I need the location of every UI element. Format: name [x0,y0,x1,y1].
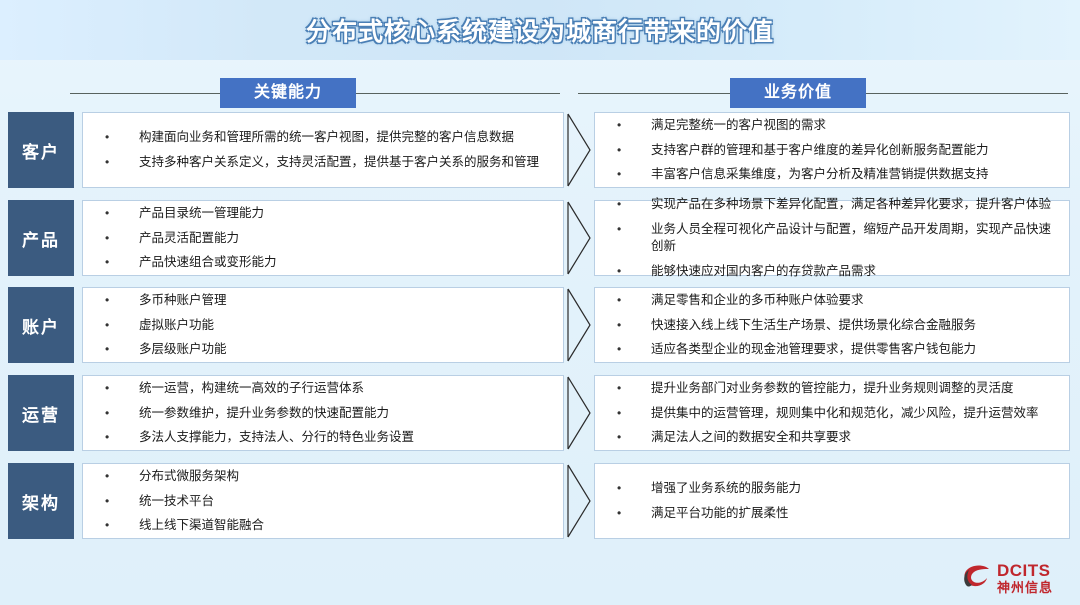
chevron-right-icon [566,463,592,539]
bullet-dot-icon: • [609,505,651,521]
page-title: 分布式核心系统建设为城商行带来的价值 [0,12,1080,48]
bullet-item: •统一技术平台 [97,493,557,510]
bullet-dot-icon: • [609,166,651,182]
bullet-text: 提供集中的运营管理，规则集中化和规范化，减少风险，提升运营效率 [651,405,1063,422]
bullet-item: •多法人支撑能力，支持法人、分行的特色业务设置 [97,429,557,446]
bullet-item: •适应各类型企业的现金池管理要求，提供零售客户钱包能力 [609,341,1063,358]
bullet-dot-icon: • [97,230,139,246]
slide-canvas: 分布式核心系统建设为城商行带来的价值 关键能力 业务价值 客户•构建面向业务和管… [0,0,1080,605]
bullet-text: 快速接入线上线下生活生产场景、提供场景化综合金融服务 [651,317,1063,334]
bullet-dot-icon: • [609,142,651,158]
bullet-item: •分布式微服务架构 [97,468,557,485]
bullet-item: •业务人员全程可视化产品设计与配置，缩短产品开发周期，实现产品快速创新 [609,221,1063,255]
bullet-dot-icon: • [97,205,139,221]
bullet-dot-icon: • [97,493,139,509]
capability-panel-1: •产品目录统一管理能力•产品灵活配置能力•产品快速组合或变形能力 [82,200,564,276]
bullet-dot-icon: • [97,154,139,170]
bullet-dot-icon: • [609,380,651,396]
bullet-text: 满足平台功能的扩展柔性 [651,505,1063,522]
bullet-dot-icon: • [97,254,139,270]
bullet-dot-icon: • [609,429,651,445]
bullet-text: 多层级账户功能 [139,341,557,358]
bullet-item: •产品灵活配置能力 [97,230,557,247]
bullet-text: 提升业务部门对业务参数的管控能力，提升业务规则调整的灵活度 [651,380,1063,397]
bullet-item: •快速接入线上线下生活生产场景、提供场景化综合金融服务 [609,317,1063,334]
logo-wordmark: DCITS 神州信息 [997,562,1053,594]
chevron-right-icon [566,375,592,451]
bullet-item: •提升业务部门对业务参数的管控能力，提升业务规则调整的灵活度 [609,380,1063,397]
bullet-dot-icon: • [97,405,139,421]
bullet-text: 产品快速组合或变形能力 [139,254,557,271]
chevron-right-icon [566,287,592,363]
bullet-item: •产品快速组合或变形能力 [97,254,557,271]
company-logo: DCITS 神州信息 [960,558,1072,598]
bullet-dot-icon: • [609,317,651,333]
bullet-dot-icon: • [609,263,651,279]
value-panel-0: •满足完整统一的客户视图的需求•支持客户群的管理和基于客户维度的差异化创新服务配… [594,112,1070,188]
column-header-business-value: 业务价值 [578,78,1068,108]
bullet-item: •产品目录统一管理能力 [97,205,557,222]
row-tag-2[interactable]: 账户 [8,287,74,363]
value-panel-2: •满足零售和企业的多币种账户体验要求•快速接入线上线下生活生产场景、提供场景化综… [594,287,1070,363]
bullet-item: •多币种账户管理 [97,292,557,309]
value-panel-3: •提升业务部门对业务参数的管控能力，提升业务规则调整的灵活度•提供集中的运营管理… [594,375,1070,451]
value-panel-4: •增强了业务系统的服务能力•满足平台功能的扩展柔性 [594,463,1070,539]
capability-panel-2: •多币种账户管理•虚拟账户功能•多层级账户功能 [82,287,564,363]
bullet-text: 统一参数维护，提升业务参数的快速配置能力 [139,405,557,422]
value-row: 运营•统一运营，构建统一高效的子行运营体系•统一参数维护，提升业务参数的快速配置… [0,375,1080,451]
bullet-item: •满足完整统一的客户视图的需求 [609,117,1063,134]
bullet-item: •实现产品在多种场景下差异化配置，满足各种差异化要求，提升客户体验 [609,196,1063,213]
bullet-dot-icon: • [97,317,139,333]
bullet-text: 丰富客户信息采集维度，为客户分析及精准营销提供数据支持 [651,166,1063,183]
bullet-text: 满足法人之间的数据安全和共享要求 [651,429,1063,446]
capability-panel-3: •统一运营，构建统一高效的子行运营体系•统一参数维护，提升业务参数的快速配置能力… [82,375,564,451]
value-row: 账户•多币种账户管理•虚拟账户功能•多层级账户功能•满足零售和企业的多币种账户体… [0,287,1080,363]
capability-panel-0: •构建面向业务和管理所需的统一客户视图，提供完整的客户信息数据•支持多种客户关系… [82,112,564,188]
bullet-text: 分布式微服务架构 [139,468,557,485]
bullet-item: •能够快速应对国内客户的存贷款产品需求 [609,263,1063,280]
capability-panel-4: •分布式微服务架构•统一技术平台•线上线下渠道智能融合 [82,463,564,539]
bullet-item: •支持多种客户关系定义，支持灵活配置，提供基于客户关系的服务和管理 [97,154,557,171]
rule-right [866,93,1068,94]
bullet-text: 产品目录统一管理能力 [139,205,557,222]
bullet-text: 多法人支撑能力，支持法人、分行的特色业务设置 [139,429,557,446]
value-panel-1: •实现产品在多种场景下差异化配置，满足各种差异化要求，提升客户体验•业务人员全程… [594,200,1070,276]
bullet-text: 满足完整统一的客户视图的需求 [651,117,1063,134]
bullet-dot-icon: • [609,341,651,357]
value-row: 产品•产品目录统一管理能力•产品灵活配置能力•产品快速组合或变形能力•实现产品在… [0,200,1080,276]
bullet-item: •增强了业务系统的服务能力 [609,480,1063,497]
dcits-swirl-icon [960,561,994,595]
bullet-dot-icon: • [97,517,139,533]
bullet-dot-icon: • [97,429,139,445]
chevron-right-icon [566,200,592,276]
bullet-text: 适应各类型企业的现金池管理要求，提供零售客户钱包能力 [651,341,1063,358]
rule-left [70,93,220,94]
bullet-text: 线上线下渠道智能融合 [139,517,557,534]
logo-text-cn: 神州信息 [997,581,1053,594]
bullet-item: •丰富客户信息采集维度，为客户分析及精准营销提供数据支持 [609,166,1063,183]
bullet-item: •虚拟账户功能 [97,317,557,334]
bullet-text: 统一运营，构建统一高效的子行运营体系 [139,380,557,397]
rule-left [578,93,730,94]
bullet-text: 满足零售和企业的多币种账户体验要求 [651,292,1063,309]
bullet-text: 构建面向业务和管理所需的统一客户视图，提供完整的客户信息数据 [139,129,557,146]
badge-key-capability[interactable]: 关键能力 [220,78,356,108]
bullet-text: 虚拟账户功能 [139,317,557,334]
bullet-dot-icon: • [609,405,651,421]
value-row: 架构•分布式微服务架构•统一技术平台•线上线下渠道智能融合•增强了业务系统的服务… [0,463,1080,539]
bullet-text: 统一技术平台 [139,493,557,510]
bullet-dot-icon: • [609,196,651,212]
bullet-dot-icon: • [609,292,651,308]
bullet-text: 能够快速应对国内客户的存贷款产品需求 [651,263,1063,280]
bullet-item: •统一参数维护，提升业务参数的快速配置能力 [97,405,557,422]
bullet-text: 多币种账户管理 [139,292,557,309]
chevron-right-icon [566,112,592,188]
logo-text-en: DCITS [997,562,1053,579]
bullet-dot-icon: • [609,221,651,237]
column-header-key-capability: 关键能力 [70,78,560,108]
bullet-item: •满足平台功能的扩展柔性 [609,505,1063,522]
bullet-item: •支持客户群的管理和基于客户维度的差异化创新服务配置能力 [609,142,1063,159]
bullet-item: •满足法人之间的数据安全和共享要求 [609,429,1063,446]
bullet-dot-icon: • [97,380,139,396]
bullet-dot-icon: • [97,129,139,145]
bullet-text: 业务人员全程可视化产品设计与配置，缩短产品开发周期，实现产品快速创新 [651,221,1063,255]
row-tag-1[interactable]: 产品 [8,200,74,276]
bullet-item: •统一运营，构建统一高效的子行运营体系 [97,380,557,397]
bullet-text: 实现产品在多种场景下差异化配置，满足各种差异化要求，提升客户体验 [651,196,1063,213]
bullet-item: •多层级账户功能 [97,341,557,358]
bullet-item: •线上线下渠道智能融合 [97,517,557,534]
bullet-dot-icon: • [97,468,139,484]
bullet-text: 增强了业务系统的服务能力 [651,480,1063,497]
bullet-dot-icon: • [97,341,139,357]
bullet-dot-icon: • [609,480,651,496]
bullet-text: 支持多种客户关系定义，支持灵活配置，提供基于客户关系的服务和管理 [139,154,557,171]
row-tag-4[interactable]: 架构 [8,463,74,539]
bullet-item: •提供集中的运营管理，规则集中化和规范化，减少风险，提升运营效率 [609,405,1063,422]
bullet-dot-icon: • [97,292,139,308]
row-tag-3[interactable]: 运营 [8,375,74,451]
bullet-text: 支持客户群的管理和基于客户维度的差异化创新服务配置能力 [651,142,1063,159]
rule-right [356,93,560,94]
row-tag-0[interactable]: 客户 [8,112,74,188]
bullet-dot-icon: • [609,117,651,133]
badge-business-value[interactable]: 业务价值 [730,78,866,108]
value-row: 客户•构建面向业务和管理所需的统一客户视图，提供完整的客户信息数据•支持多种客户… [0,112,1080,188]
bullet-text: 产品灵活配置能力 [139,230,557,247]
bullet-item: •满足零售和企业的多币种账户体验要求 [609,292,1063,309]
bullet-item: •构建面向业务和管理所需的统一客户视图，提供完整的客户信息数据 [97,129,557,146]
